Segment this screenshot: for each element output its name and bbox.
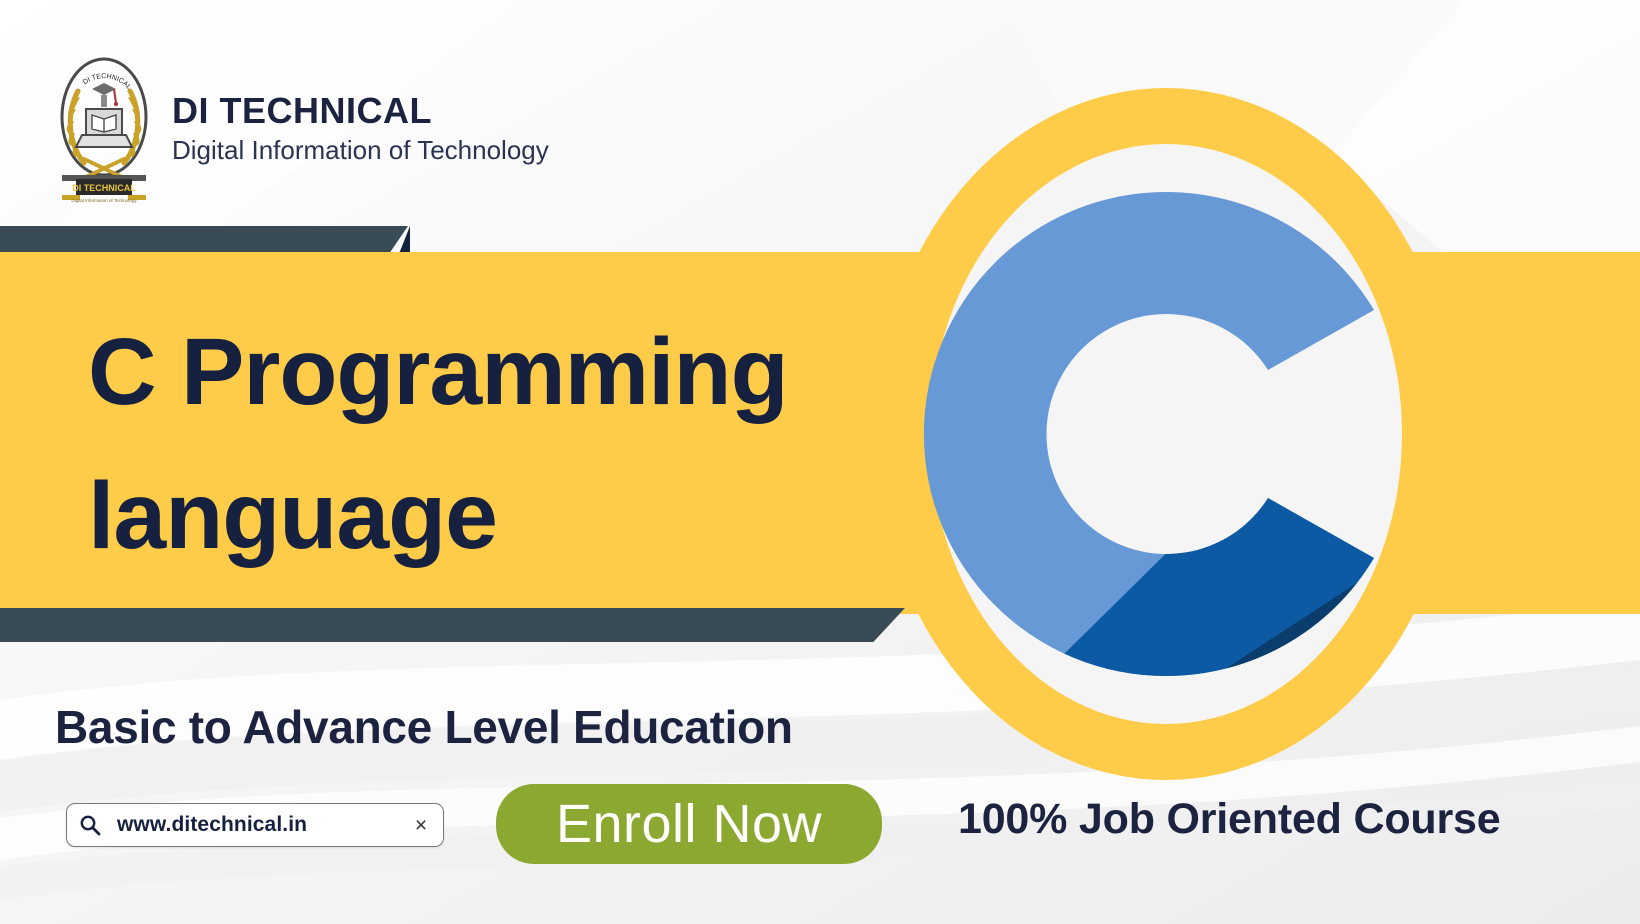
- subheading: Basic to Advance Level Education: [55, 700, 793, 754]
- ribbon-bottom-bar: [0, 608, 905, 642]
- search-icon: [79, 814, 101, 836]
- logo-emblem: DI TECHNICAL DI TECHNICAL Digital Inform: [58, 55, 150, 203]
- c-language-logo-icon: [876, 88, 1456, 780]
- banner-canvas: DI TECHNICAL DI TECHNICAL Digital Inform: [0, 0, 1640, 924]
- headline-line-2: language: [88, 444, 848, 588]
- c-language-logo: [876, 88, 1456, 780]
- search-input[interactable]: www.ditechnical.in ×: [66, 803, 444, 847]
- brand-tagline: Digital Information of Technology: [172, 134, 549, 168]
- laurel-graduation-emblem-icon: DI TECHNICAL DI TECHNICAL Digital Inform: [58, 55, 150, 203]
- search-value[interactable]: www.ditechnical.in: [117, 813, 411, 837]
- svg-text:DI TECHNICAL: DI TECHNICAL: [72, 183, 136, 193]
- svg-text:Digital Information of Technol: Digital Information of Technology: [71, 198, 137, 203]
- job-oriented-text: 100% Job Oriented Course: [958, 795, 1500, 844]
- brand-text: DI TECHNICAL Digital Information of Tech…: [172, 90, 549, 168]
- enroll-now-label: Enroll Now: [556, 797, 822, 851]
- page-title: C Programming language: [88, 300, 848, 589]
- close-icon[interactable]: ×: [411, 815, 431, 835]
- headline-line-1: C Programming: [88, 300, 848, 444]
- brand-name: DI TECHNICAL: [172, 90, 549, 131]
- brand-lockup: DI TECHNICAL DI TECHNICAL Digital Inform: [58, 55, 549, 203]
- enroll-now-button[interactable]: Enroll Now: [496, 784, 882, 864]
